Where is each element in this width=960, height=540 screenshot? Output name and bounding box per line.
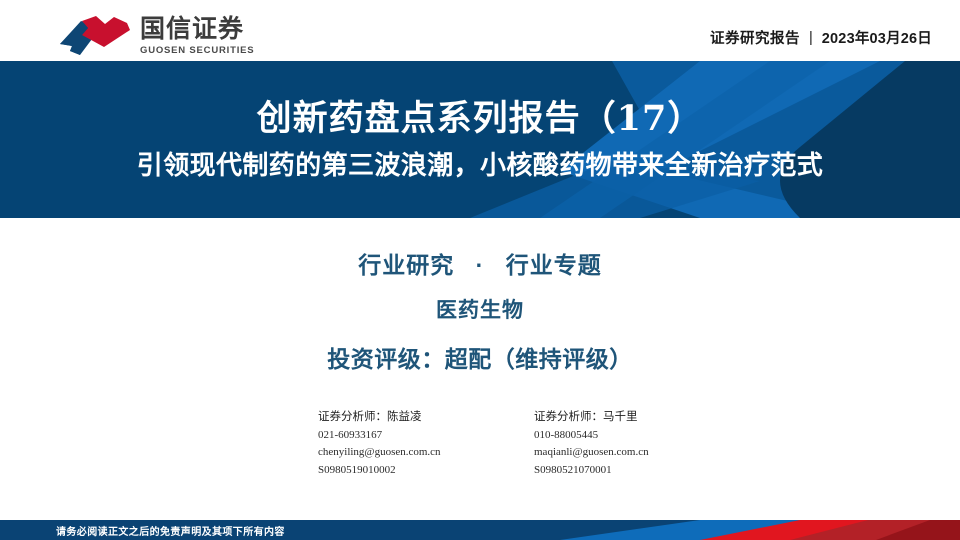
topic-type-label: 行业专题 [506,252,602,278]
report-title: 创新药盘点系列报告（17） [257,98,704,140]
investment-rating: 投资评级：超配（维持评级） [0,340,960,374]
report-meta-block: 行业研究 · 行业专题 医药生物 投资评级：超配（维持评级） [0,218,960,374]
industry-label: 医药生物 [0,294,960,324]
analyst-email[interactable]: chenyiling@guosen.com.cn [318,444,518,462]
page-footer: 请务必阅读正文之后的免责声明及其项下所有内容 [0,520,960,540]
analyst-phone: 021-60933167 [318,427,518,445]
analyst-name: 证券分析师：马千里 [534,408,754,427]
analyst-contact-block: 证券分析师：陈益凌 021-60933167 chenyiling@guosen… [0,408,960,480]
footer-disclaimer: 请务必阅读正文之后的免责声明及其项下所有内容 [56,520,285,540]
analyst-entry: 证券分析师：陈益凌 021-60933167 chenyiling@guosen… [318,408,518,480]
brand-logo: 国信证券 GUOSEN SECURITIES [58,14,254,58]
brand-logo-text: 国信证券 GUOSEN SECURITIES [140,17,254,56]
analyst-license-number: S0980521070001 [534,462,754,480]
header-separator: | [809,30,813,46]
analyst-email[interactable]: maqianli@guosen.com.cn [534,444,754,462]
analyst-entry: 证券分析师：马千里 010-88005445 maqianli@guosen.c… [534,408,754,480]
report-cover-page: 国信证券 GUOSEN SECURITIES 证券研究报告 | 2023年03月… [0,0,960,540]
research-category-line: 行业研究 · 行业专题 [0,246,960,280]
analyst-phone: 010-88005445 [534,427,754,445]
guosen-diamond-heart-icon [58,15,136,57]
research-type-label: 行业研究 [358,252,454,278]
title-banner: 创新药盘点系列报告（17） 引领现代制药的第三波浪潮，小核酸药物带来全新治疗范式 [0,61,960,218]
report-subtitle: 引领现代制药的第三波浪潮，小核酸药物带来全新治疗范式 [137,150,823,181]
header-report-meta: 证券研究报告 | 2023年03月26日 [710,27,932,48]
brand-name-cn: 国信证券 [140,17,254,42]
report-type-label: 证券研究报告 [710,27,800,48]
meta-dot-separator: · [476,252,485,278]
page-header: 国信证券 GUOSEN SECURITIES 证券研究报告 | 2023年03月… [0,0,960,61]
analyst-name: 证券分析师：陈益凌 [318,408,518,427]
banner-title-group: 创新药盘点系列报告（17） 引领现代制药的第三波浪潮，小核酸药物带来全新治疗范式 [0,61,960,218]
report-date: 2023年03月26日 [822,27,932,48]
brand-name-en: GUOSEN SECURITIES [140,46,254,56]
analyst-license-number: S0980519010002 [318,462,518,480]
